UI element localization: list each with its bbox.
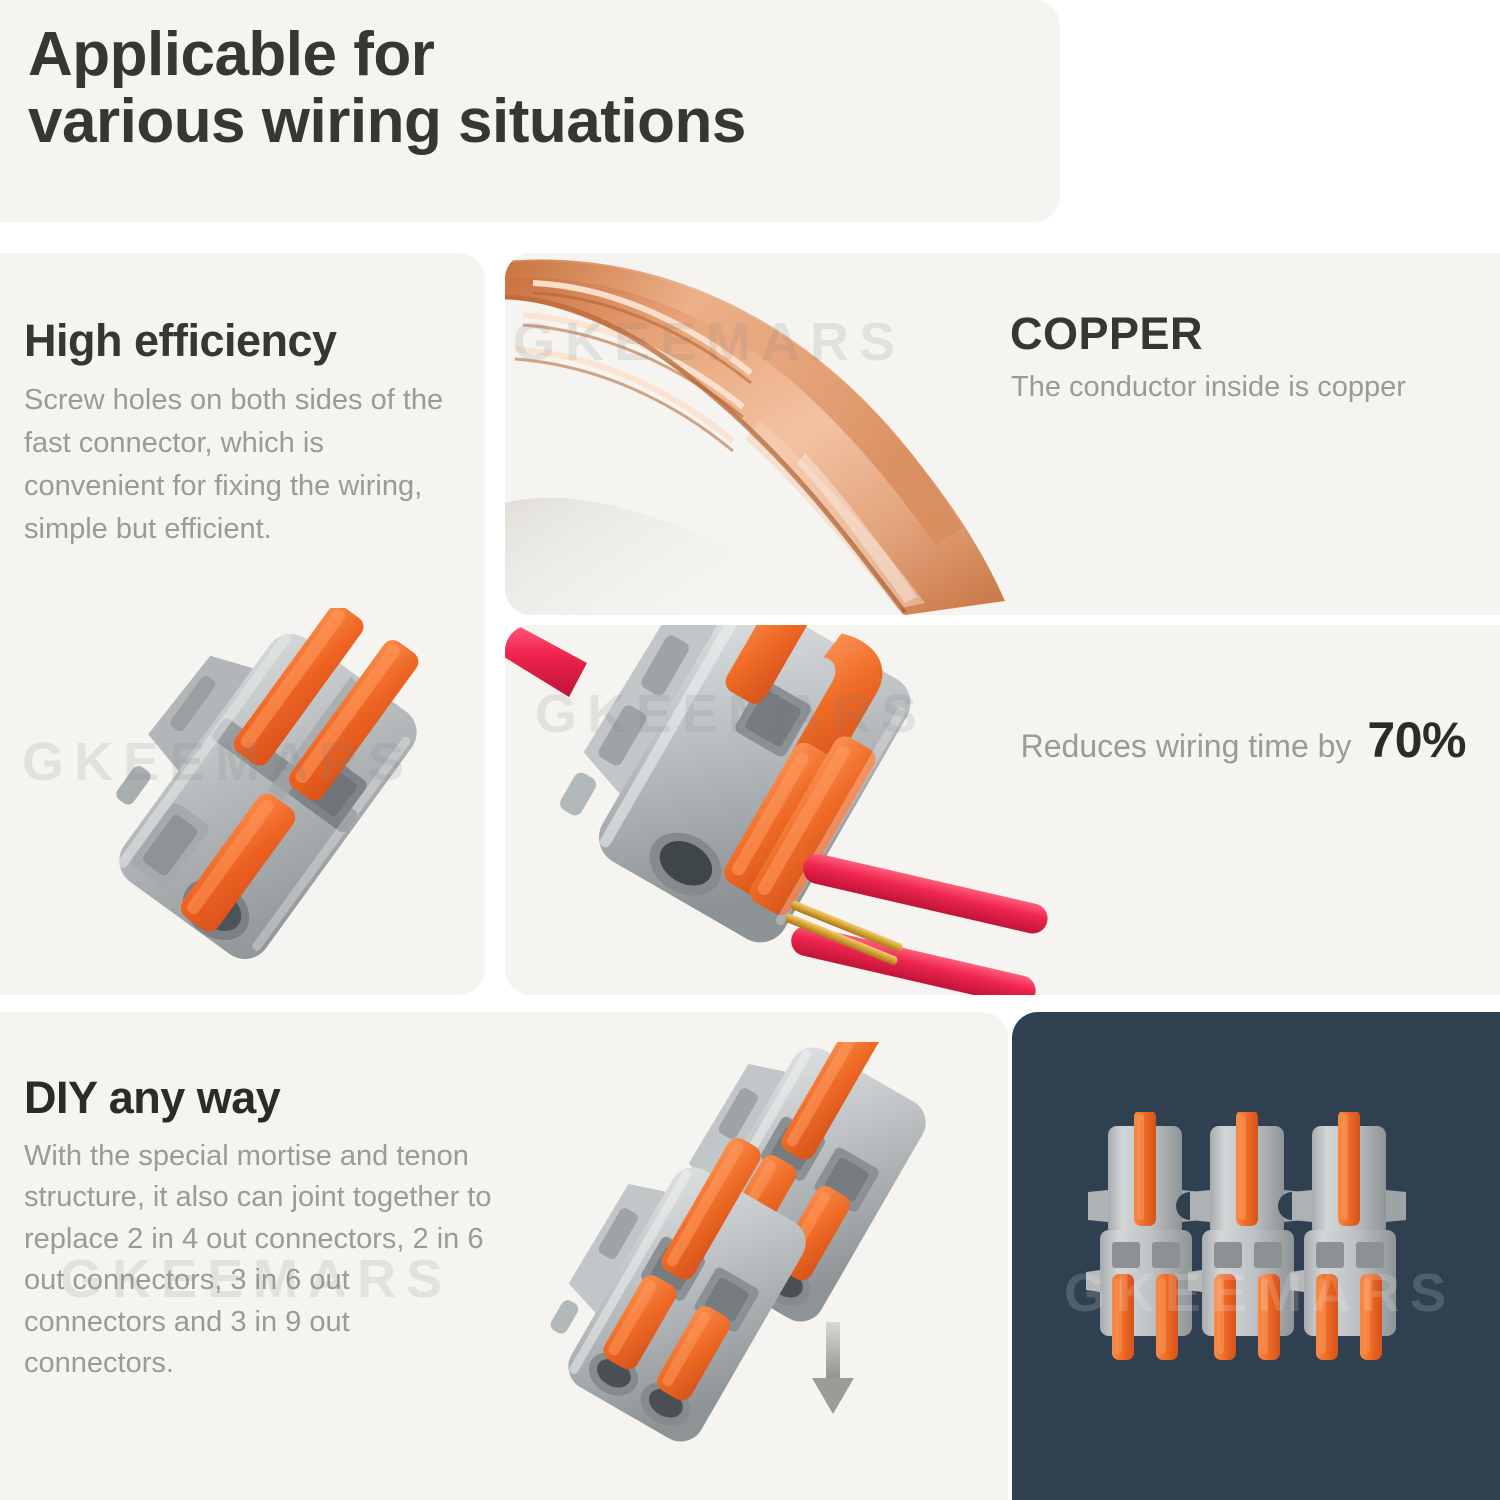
reduce-label: Reduces wiring time by bbox=[1021, 728, 1352, 765]
connector-with-red-wires-photo bbox=[505, 625, 1055, 995]
page-title: Applicable for various wiring situations bbox=[28, 22, 1028, 156]
down-arrow-icon bbox=[812, 1322, 854, 1414]
two-stackable-connectors-photo bbox=[540, 1042, 980, 1472]
reduce-wiring-time-card: GKEEMARS Reduces wiring time by 70% bbox=[505, 625, 1500, 995]
header-card: Applicable for various wiring situations bbox=[0, 0, 1060, 222]
infographic-page: Applicable for various wiring situations… bbox=[0, 0, 1500, 1500]
copper-subtitle: The conductor inside is copper bbox=[1011, 371, 1406, 404]
lever-connector-2in1out-photo bbox=[60, 608, 480, 988]
reduce-wiring-time-text: Reduces wiring time by 70% bbox=[1021, 711, 1466, 769]
high-efficiency-card: High efficiency Screw holes on both side… bbox=[0, 253, 485, 995]
three-connectors-panel: GKEEMARS bbox=[1012, 1012, 1500, 1500]
high-efficiency-title: High efficiency bbox=[24, 315, 337, 367]
three-joined-connectors-photo bbox=[1086, 1112, 1426, 1412]
diy-body: With the special mortise and tenon struc… bbox=[24, 1136, 494, 1385]
high-efficiency-body: Screw holes on both sides of the fast co… bbox=[24, 379, 444, 551]
copper-card: GKEEMARS COPPER The conductor inside is … bbox=[505, 253, 1500, 615]
reduce-value: 70% bbox=[1367, 711, 1466, 769]
diy-card: DIY any way With the special mortise and… bbox=[0, 1012, 1008, 1500]
copper-title: COPPER bbox=[1010, 308, 1203, 360]
diy-title: DIY any way bbox=[24, 1072, 280, 1124]
copper-busbar-photo bbox=[505, 253, 1005, 615]
